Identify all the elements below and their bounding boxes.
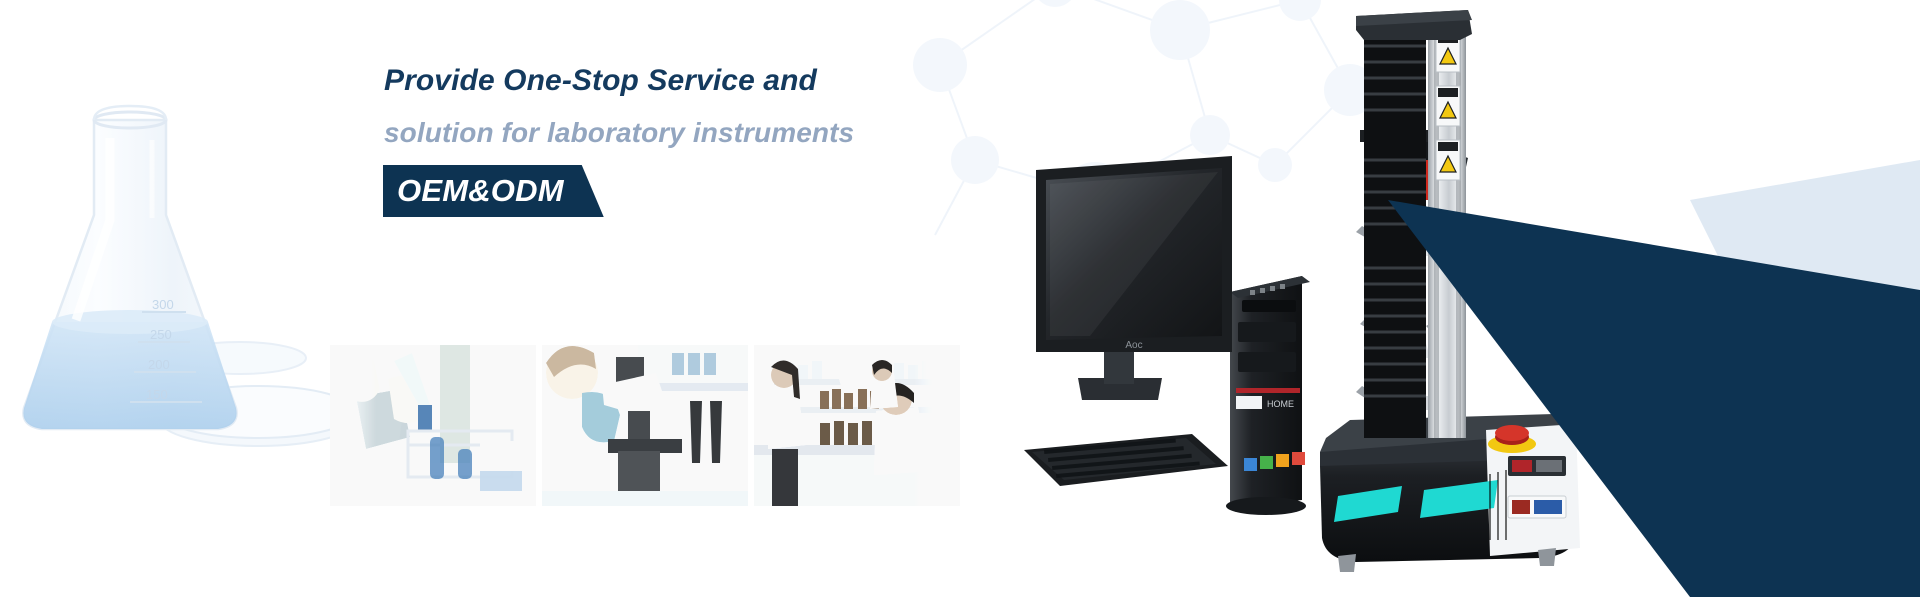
headline-line-2: solution for laboratory instruments <box>384 107 1004 159</box>
photo-strip <box>330 345 960 506</box>
svg-text:HOME: HOME <box>1267 399 1294 409</box>
oem-odm-badge: OEM&ODM <box>383 165 604 217</box>
lcd-monitor: Aoc <box>1036 156 1232 400</box>
svg-text:250: 250 <box>150 327 172 342</box>
svg-text:200: 200 <box>148 357 170 372</box>
headline-line-1: Provide One-Stop Service and <box>384 55 1004 107</box>
svg-text:150: 150 <box>146 387 168 402</box>
keyboard <box>1024 434 1228 486</box>
svg-text:300: 300 <box>152 297 174 312</box>
pc-tower: HOME <box>1226 276 1310 515</box>
erlenmeyer-flask: 300 250 200 150 <box>23 106 236 429</box>
photo-lab-team <box>754 345 960 506</box>
hero-banner: 300 250 200 150 Provide One-Stop Service… <box>0 0 1920 597</box>
photo-microscope <box>542 345 748 506</box>
photo-pipetting <box>330 345 536 506</box>
svg-text:Aoc: Aoc <box>1125 340 1142 351</box>
badge-wrap: OEM&ODM <box>384 165 1004 217</box>
headline-block: Provide One-Stop Service and solution fo… <box>384 55 1004 217</box>
decor-arrows <box>1360 0 1920 597</box>
